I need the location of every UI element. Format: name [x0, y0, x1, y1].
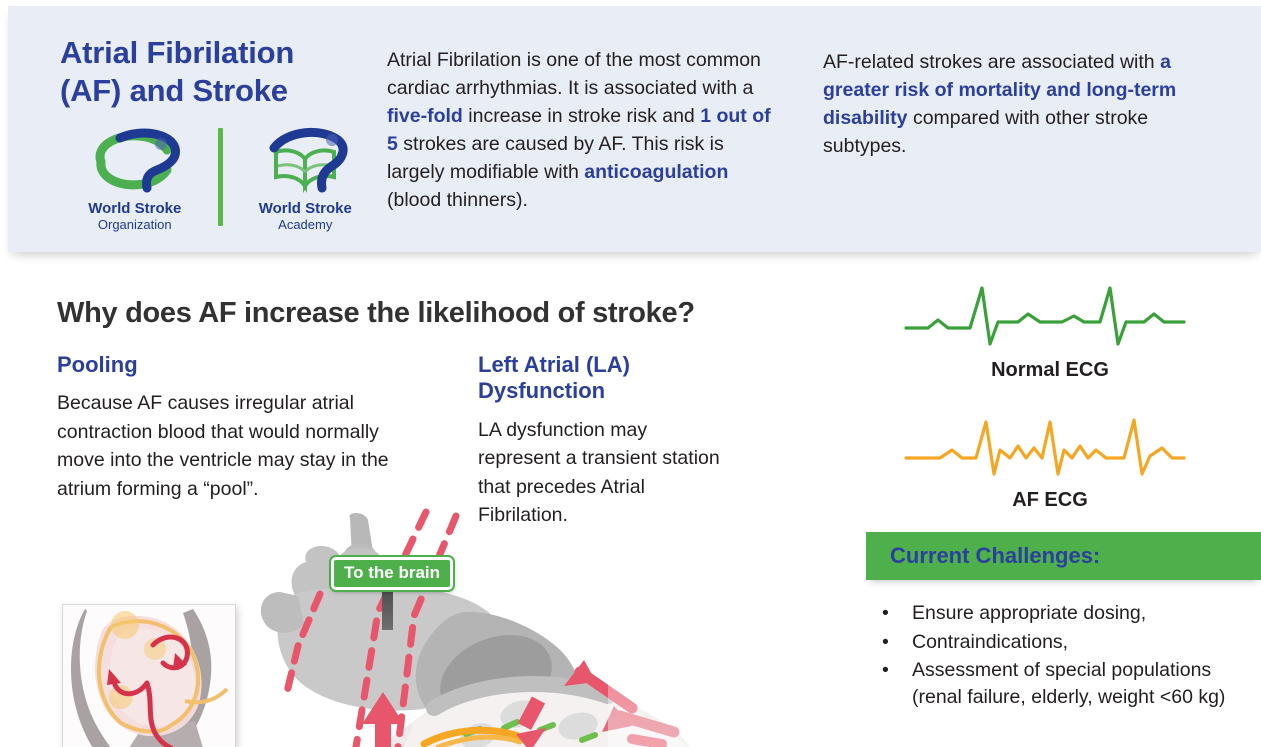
- sign-post: [382, 585, 393, 630]
- to-the-brain-sign-label: To the brain: [344, 563, 440, 582]
- header-paragraph-1: Atrial Fibrilation is one of the most co…: [387, 46, 777, 214]
- normal-ecg-trace-icon: [900, 282, 1190, 352]
- title-block: Atrial Fibrilation (AF) and Stroke: [60, 34, 370, 110]
- ecg-af: AF ECG: [900, 412, 1200, 512]
- hp1-s2: increase in stroke risk and: [463, 105, 700, 127]
- hp1-s1: Atrial Fibrilation is one of the most co…: [387, 49, 761, 99]
- wsa-logo: World Stroke Academy: [231, 126, 381, 232]
- wso-logo: World Stroke Organization: [60, 126, 210, 232]
- list-item: • Assessment of special populations (ren…: [882, 657, 1261, 710]
- page-title-line2: (AF) and Stroke: [60, 72, 370, 110]
- list-item: • Ensure appropriate dosing,: [882, 600, 1261, 627]
- wso-logo-icon: [87, 181, 182, 198]
- column-la-heading: Left Atrial (LA) Dysfunction: [478, 352, 728, 405]
- column-pooling-heading: Pooling: [57, 352, 397, 378]
- af-ecg-trace-icon: [900, 412, 1190, 482]
- list-item-text: Ensure appropriate dosing,: [912, 600, 1261, 627]
- bullet-icon: •: [882, 657, 912, 710]
- heart-diagram: [228, 500, 698, 747]
- column-pooling-body: Because AF causes irregular atrial contr…: [57, 389, 397, 503]
- atrium-pooling-inset-icon: [63, 605, 235, 747]
- page-title-line1: Atrial Fibrilation: [60, 35, 294, 70]
- hp1-highlight-anticoagulation: anticoagulation: [584, 161, 728, 183]
- logo-group: World Stroke Organization: [60, 126, 380, 236]
- infographic-page: Atrial Fibrilation (AF) and Stroke Wor: [0, 0, 1261, 747]
- wsa-logo-icon: [258, 181, 353, 198]
- bullet-icon: •: [882, 600, 912, 627]
- bullet-icon: •: [882, 629, 912, 656]
- header-paragraph-2: AF-related strokes are associated with a…: [823, 48, 1218, 160]
- ecg-spacer: [900, 382, 1200, 412]
- hp1-s4: (blood thinners).: [387, 189, 528, 211]
- list-item: • Contraindications,: [882, 629, 1261, 656]
- atrium-pooling-inset: [62, 604, 236, 747]
- header-panel: Atrial Fibrilation (AF) and Stroke Wor: [8, 6, 1261, 252]
- page-title: Atrial Fibrilation (AF) and Stroke: [60, 34, 370, 110]
- ecg-normal: Normal ECG: [900, 282, 1200, 382]
- wsa-logo-sub: Academy: [231, 218, 381, 233]
- list-item-text: Assessment of special populations (renal…: [912, 657, 1261, 710]
- current-challenges-title: Current Challenges:: [890, 543, 1100, 569]
- to-the-brain-sign: To the brain: [331, 557, 453, 590]
- current-challenges-panel: Current Challenges: • Ensure appropriate…: [866, 532, 1261, 712]
- heart-anatomy-icon: [228, 500, 698, 747]
- ecg-normal-label: Normal ECG: [900, 359, 1200, 382]
- logo-divider: [218, 128, 223, 226]
- section-title: Why does AF increase the likelihood of s…: [57, 297, 695, 330]
- wso-logo-sub: Organization: [60, 218, 210, 233]
- wso-logo-name: World Stroke: [60, 201, 210, 218]
- ecg-af-label: AF ECG: [900, 489, 1200, 512]
- wsa-logo-name: World Stroke: [231, 201, 381, 218]
- hp1-highlight-five-fold: five-fold: [387, 105, 463, 127]
- hp2-s1: AF-related strokes are associated with: [823, 51, 1160, 73]
- ecg-block: Normal ECG AF ECG: [900, 282, 1200, 512]
- list-item-text: Contraindications,: [912, 629, 1261, 656]
- current-challenges-list: • Ensure appropriate dosing, • Contraind…: [866, 600, 1261, 710]
- current-challenges-bar: Current Challenges:: [866, 532, 1261, 580]
- column-pooling: Pooling Because AF causes irregular atri…: [57, 352, 397, 503]
